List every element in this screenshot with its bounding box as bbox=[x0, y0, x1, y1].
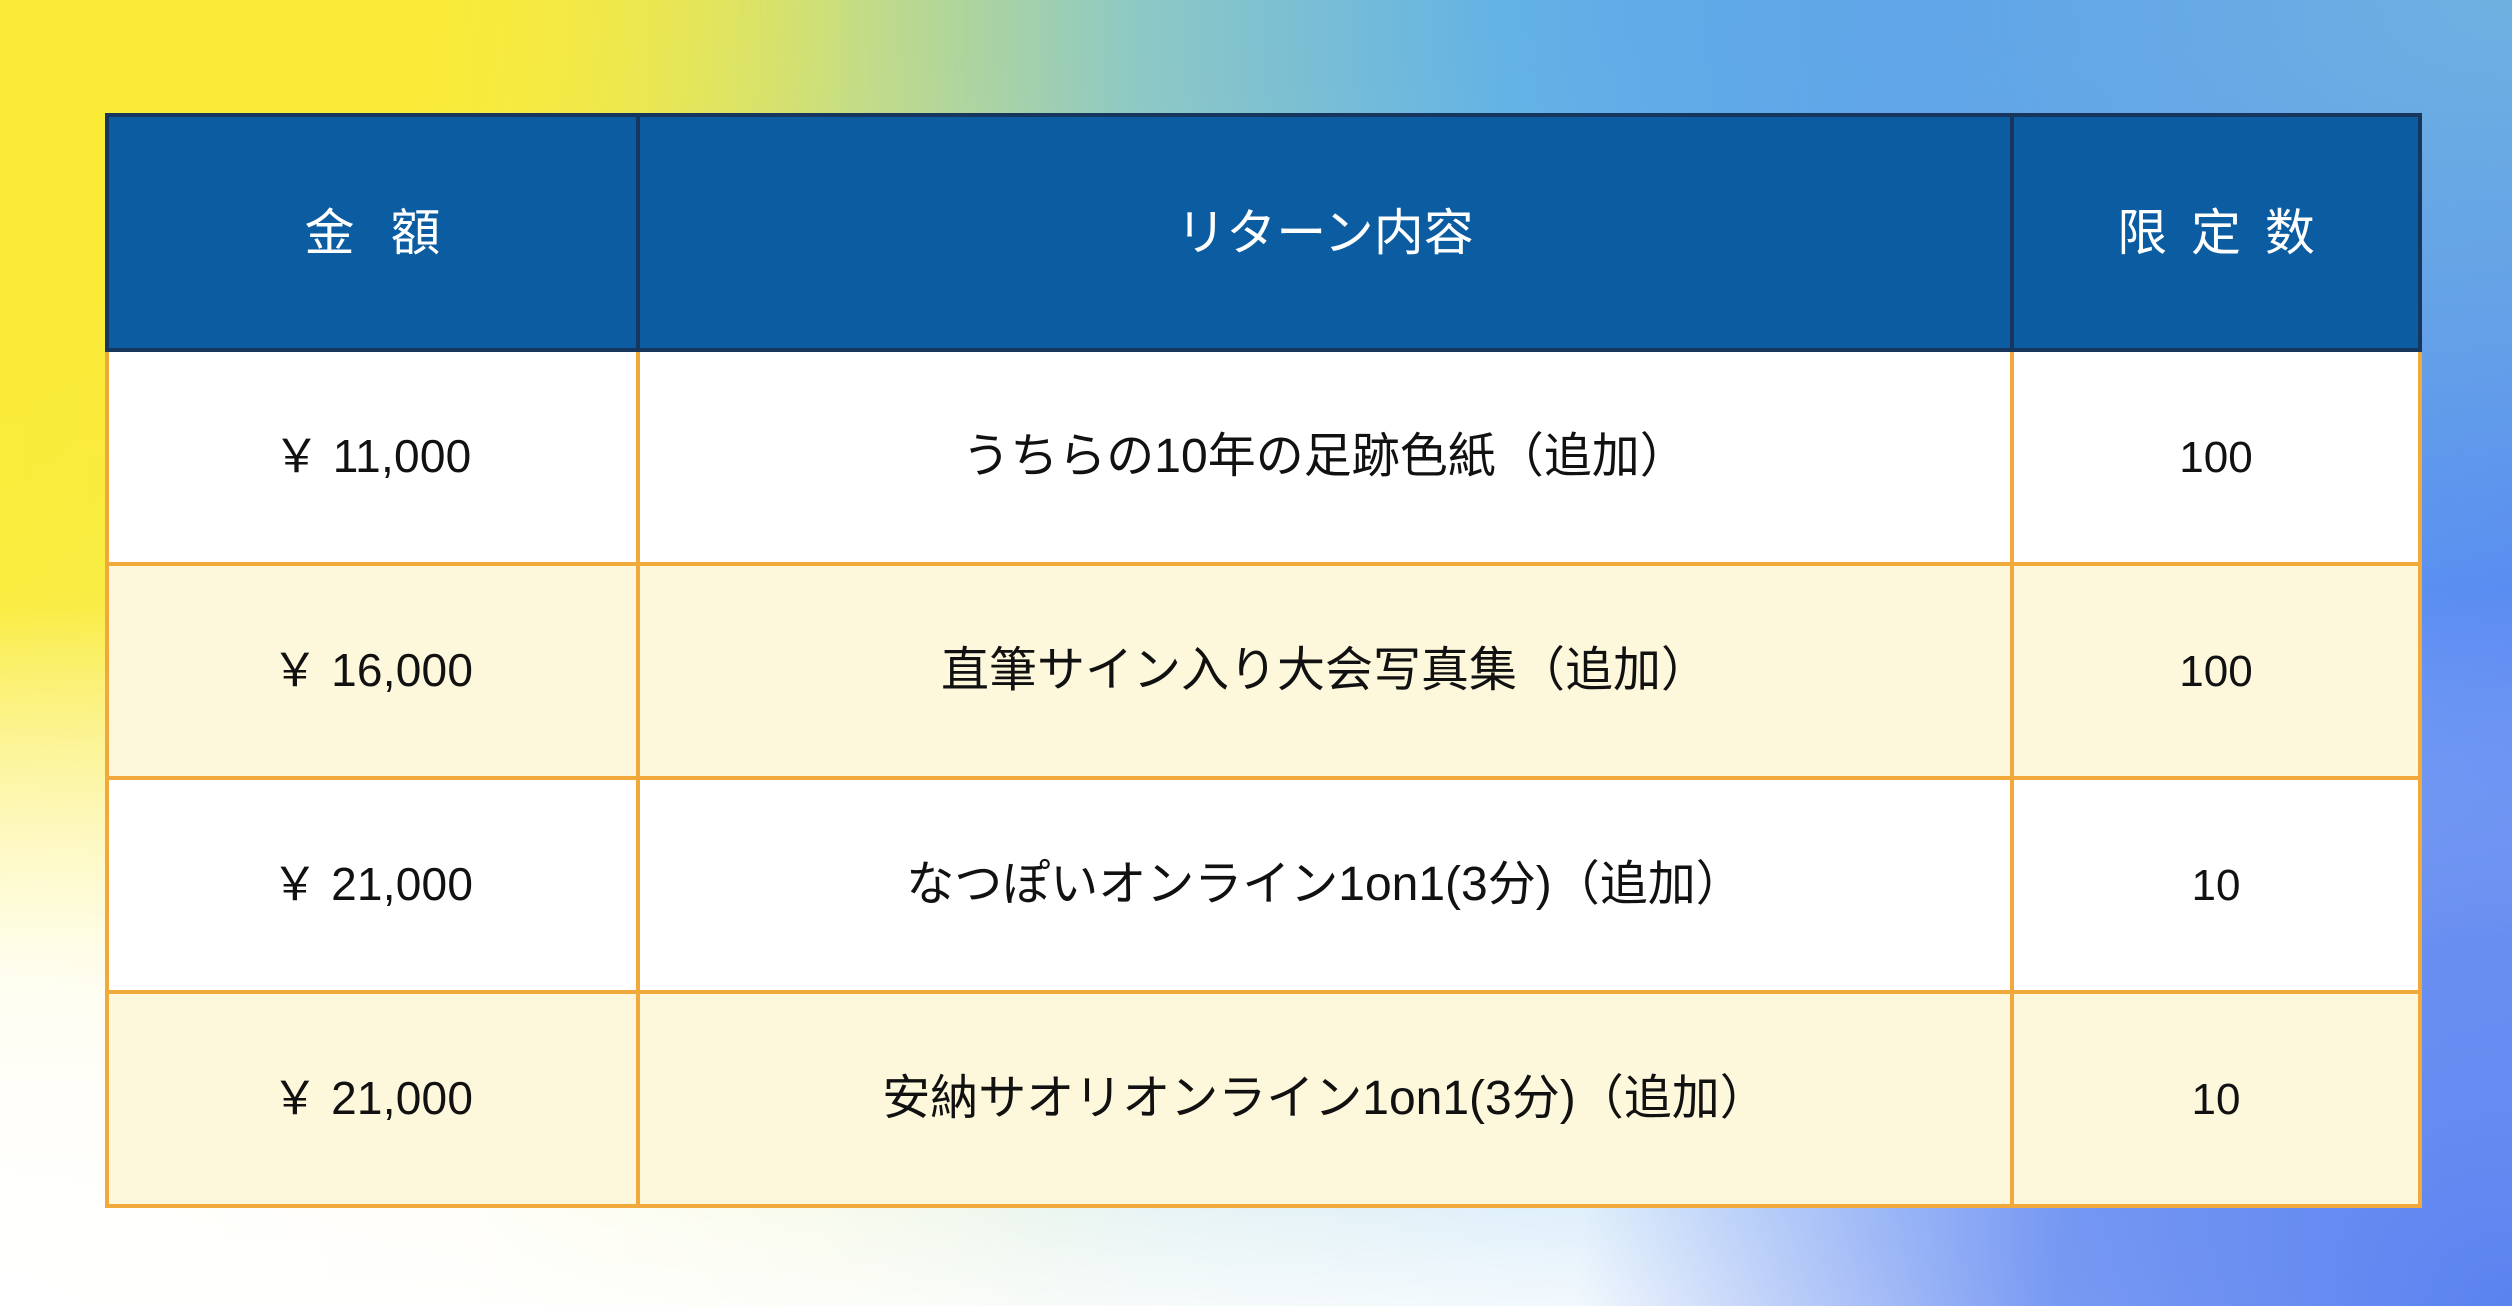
cell-amount: ￥ 21,000 bbox=[107, 778, 638, 992]
table-header-row: 金 額 リターン内容 限 定 数 bbox=[107, 115, 2420, 350]
cell-amount: ￥ 21,000 bbox=[107, 992, 638, 1206]
cell-limit-count: 100 bbox=[2012, 350, 2420, 564]
return-table-container: 金 額 リターン内容 限 定 数 ￥ 11,000 うちらの10年の足跡色紙（追… bbox=[105, 113, 2418, 1205]
cell-return-content: なつぽいオンライン1on1(3分)（追加） bbox=[638, 778, 2012, 992]
column-header-amount: 金 額 bbox=[107, 115, 638, 350]
cell-return-content: 直筆サイン入り大会写真集（追加） bbox=[638, 564, 2012, 778]
table-row: ￥ 16,000 直筆サイン入り大会写真集（追加） 100 bbox=[107, 564, 2420, 778]
table-row: ￥ 11,000 うちらの10年の足跡色紙（追加） 100 bbox=[107, 350, 2420, 564]
table-header: 金 額 リターン内容 限 定 数 bbox=[107, 115, 2420, 350]
cell-return-content: 安納サオリオンライン1on1(3分)（追加） bbox=[638, 992, 2012, 1206]
cell-limit-count: 10 bbox=[2012, 992, 2420, 1206]
cell-limit-count: 10 bbox=[2012, 778, 2420, 992]
table-row: ￥ 21,000 安納サオリオンライン1on1(3分)（追加） 10 bbox=[107, 992, 2420, 1206]
cell-amount: ￥ 11,000 bbox=[107, 350, 638, 564]
return-table: 金 額 リターン内容 限 定 数 ￥ 11,000 うちらの10年の足跡色紙（追… bbox=[105, 113, 2422, 1208]
cell-amount: ￥ 16,000 bbox=[107, 564, 638, 778]
column-header-return-content: リターン内容 bbox=[638, 115, 2012, 350]
table-row: ￥ 21,000 なつぽいオンライン1on1(3分)（追加） 10 bbox=[107, 778, 2420, 992]
column-header-limit-count: 限 定 数 bbox=[2012, 115, 2420, 350]
cell-return-content: うちらの10年の足跡色紙（追加） bbox=[638, 350, 2012, 564]
cell-limit-count: 100 bbox=[2012, 564, 2420, 778]
table-body: ￥ 11,000 うちらの10年の足跡色紙（追加） 100 ￥ 16,000 直… bbox=[107, 350, 2420, 1206]
